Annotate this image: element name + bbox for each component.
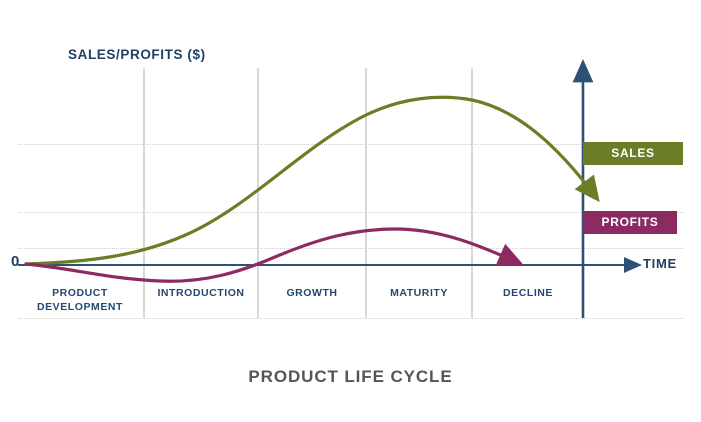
profits-curve (26, 229, 512, 281)
chart-title: PRODUCT LIFE CYCLE (0, 367, 701, 387)
origin-label: 0 (11, 253, 19, 270)
stage-label-growth: GROWTH (259, 286, 365, 300)
x-axis-label: TIME (643, 256, 677, 271)
stage-label-line1: INTRODUCTION (145, 286, 257, 300)
stage-label-line2: DEVELOPMENT (18, 300, 142, 314)
product-life-cycle-chart: SALES/PROFITS ($) 0 TIME PRODUCT DEVELOP… (0, 0, 701, 422)
stage-label-line1: PRODUCT (18, 286, 142, 300)
stage-label-line1: MATURITY (367, 286, 471, 300)
sales-curve (26, 97, 592, 264)
stage-label-introduction: INTRODUCTION (145, 286, 257, 300)
stage-label-maturity: MATURITY (367, 286, 471, 300)
stage-label-decline: DECLINE (473, 286, 583, 300)
legend-item-sales: SALES (583, 142, 683, 165)
stage-label-product-development: PRODUCT DEVELOPMENT (18, 286, 142, 314)
stage-label-line1: DECLINE (473, 286, 583, 300)
y-axis-label: SALES/PROFITS ($) (68, 47, 206, 62)
legend-item-profits: PROFITS (583, 211, 677, 234)
stage-label-line1: GROWTH (259, 286, 365, 300)
